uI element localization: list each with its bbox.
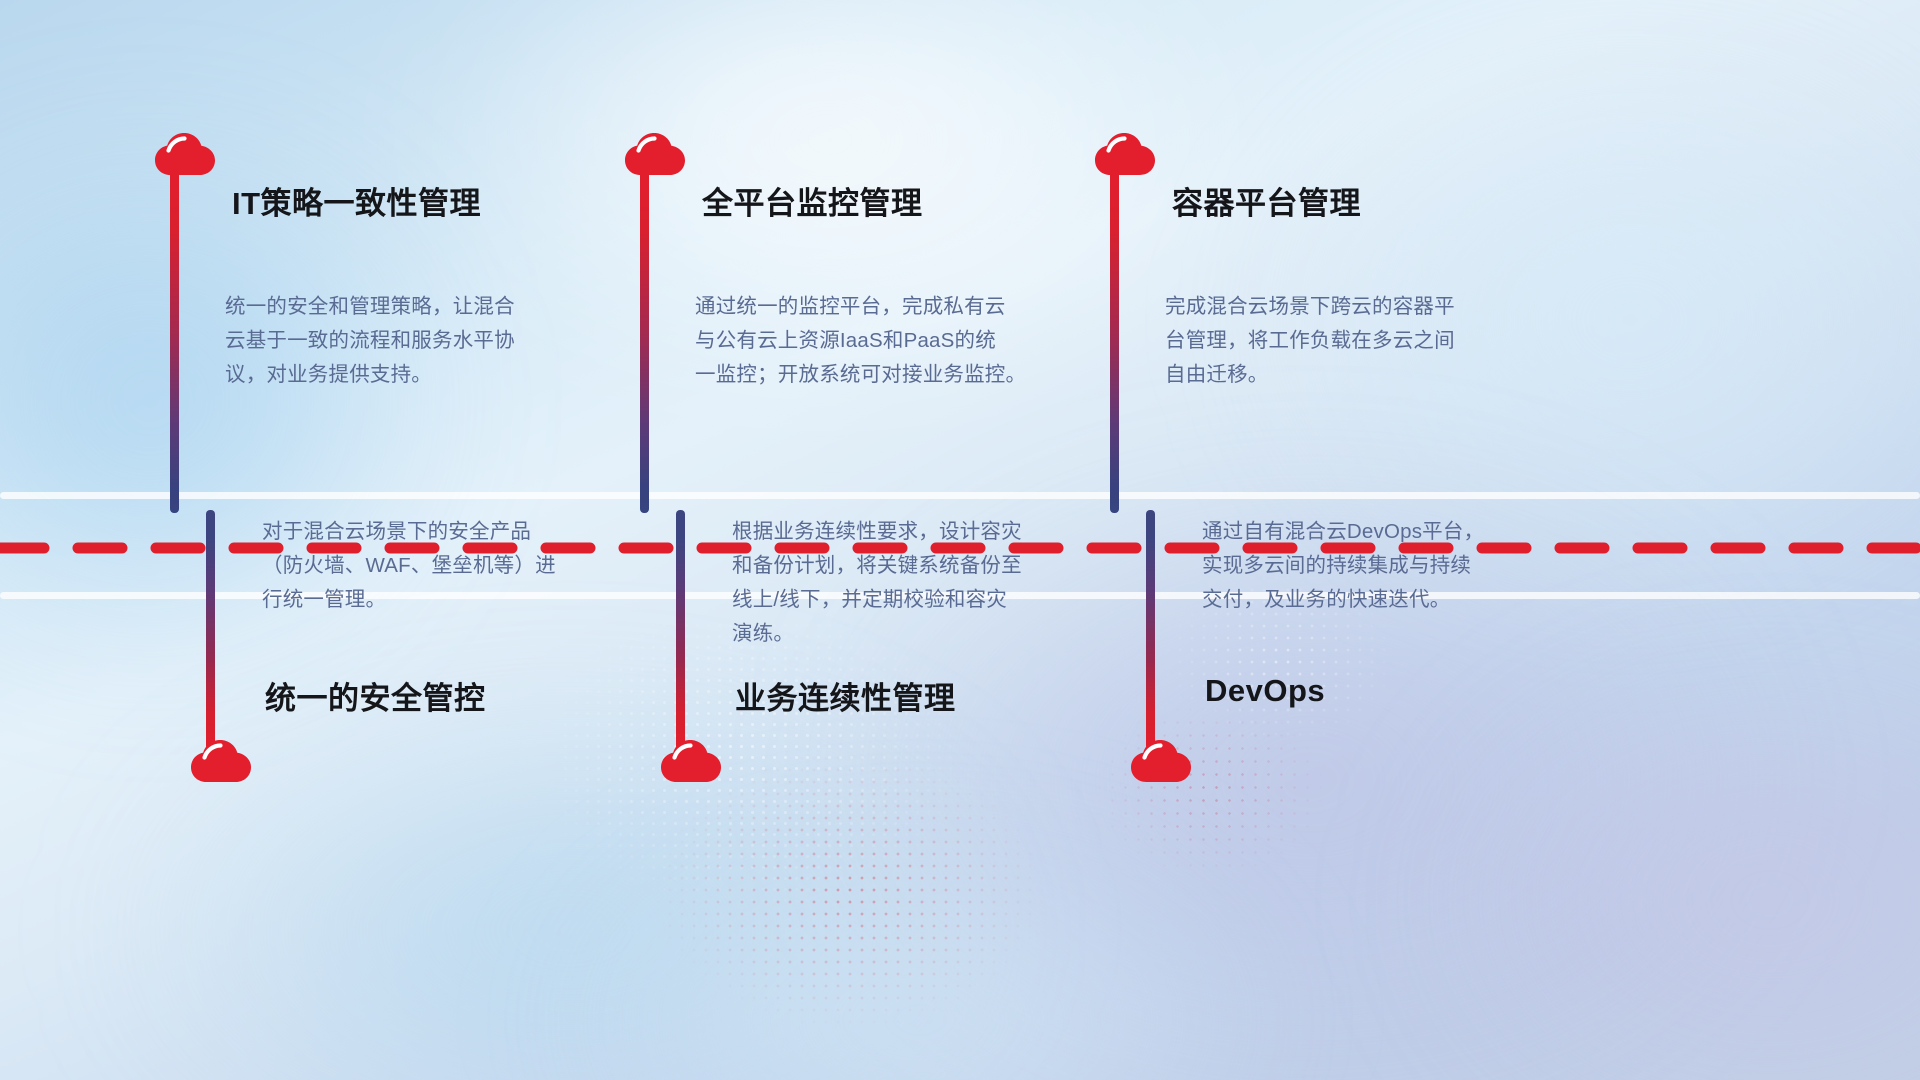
timeline-stem [1110,168,1119,513]
feature-title: 容器平台管理 [1172,178,1361,223]
cloud-icon [190,737,252,783]
body-line: 行统一管理。 [262,583,556,617]
divider-rule-top [0,492,1920,499]
body-line: 议，对业务提供支持。 [225,358,515,392]
body-line: （防火墙、WAF、堡垒机等）进 [262,549,556,583]
body-line: 演练。 [732,617,1022,651]
timeline-stem [676,510,685,750]
body-line: 通过自有混合云DevOps平台， [1202,515,1484,549]
body-line: 完成混合云场景下跨云的容器平 [1165,290,1455,324]
cloud-icon [624,130,686,176]
cloud-icon [660,737,722,783]
body-line: 统一的安全和管理策略，让混合 [225,290,515,324]
feature-body: 通过统一的监控平台，完成私有云 与公有云上资源IaaS和PaaS的统 一监控；开… [695,290,1026,392]
body-line: 对于混合云场景下的安全产品 [262,515,556,549]
feature-body: 完成混合云场景下跨云的容器平 台管理，将工作负载在多云之间 自由迁移。 [1165,290,1455,392]
body-line: 台管理，将工作负载在多云之间 [1165,324,1455,358]
feature-title: 业务连续性管理 [735,673,956,718]
body-line: 线上/线下，并定期校验和容灾 [732,583,1022,617]
timeline-stem [1146,510,1155,750]
cloud-icon [1130,737,1192,783]
feature-title: IT策略一致性管理 [232,178,481,223]
cloud-icon [154,130,216,176]
timeline-stem [170,168,179,513]
feature-title: 全平台监控管理 [702,178,923,223]
body-line: 实现多云间的持续集成与持续 [1202,549,1484,583]
feature-body: 根据业务连续性要求，设计容灾 和备份计划，将关键系统备份至 线上/线下，并定期校… [732,515,1022,651]
infographic-canvas: IT策略一致性管理 统一的安全和管理策略，让混合 云基于一致的流程和服务水平协 … [0,0,1920,1080]
body-line: 自由迁移。 [1165,358,1455,392]
feature-body: 统一的安全和管理策略，让混合 云基于一致的流程和服务水平协 议，对业务提供支持。 [225,290,515,392]
body-line: 与公有云上资源IaaS和PaaS的统 [695,324,1026,358]
body-line: 根据业务连续性要求，设计容灾 [732,515,1022,549]
body-line: 云基于一致的流程和服务水平协 [225,324,515,358]
body-line: 通过统一的监控平台，完成私有云 [695,290,1026,324]
body-line: 和备份计划，将关键系统备份至 [732,549,1022,583]
feature-title: DevOps [1205,673,1325,709]
cloud-icon [1094,130,1156,176]
body-line: 一监控；开放系统可对接业务监控。 [695,358,1026,392]
body-line: 交付，及业务的快速迭代。 [1202,583,1484,617]
feature-body: 通过自有混合云DevOps平台， 实现多云间的持续集成与持续 交付，及业务的快速… [1202,515,1484,617]
timeline-stem [640,168,649,513]
timeline-stem [206,510,215,750]
feature-title: 统一的安全管控 [265,673,486,718]
feature-body: 对于混合云场景下的安全产品 （防火墙、WAF、堡垒机等）进 行统一管理。 [262,515,556,617]
